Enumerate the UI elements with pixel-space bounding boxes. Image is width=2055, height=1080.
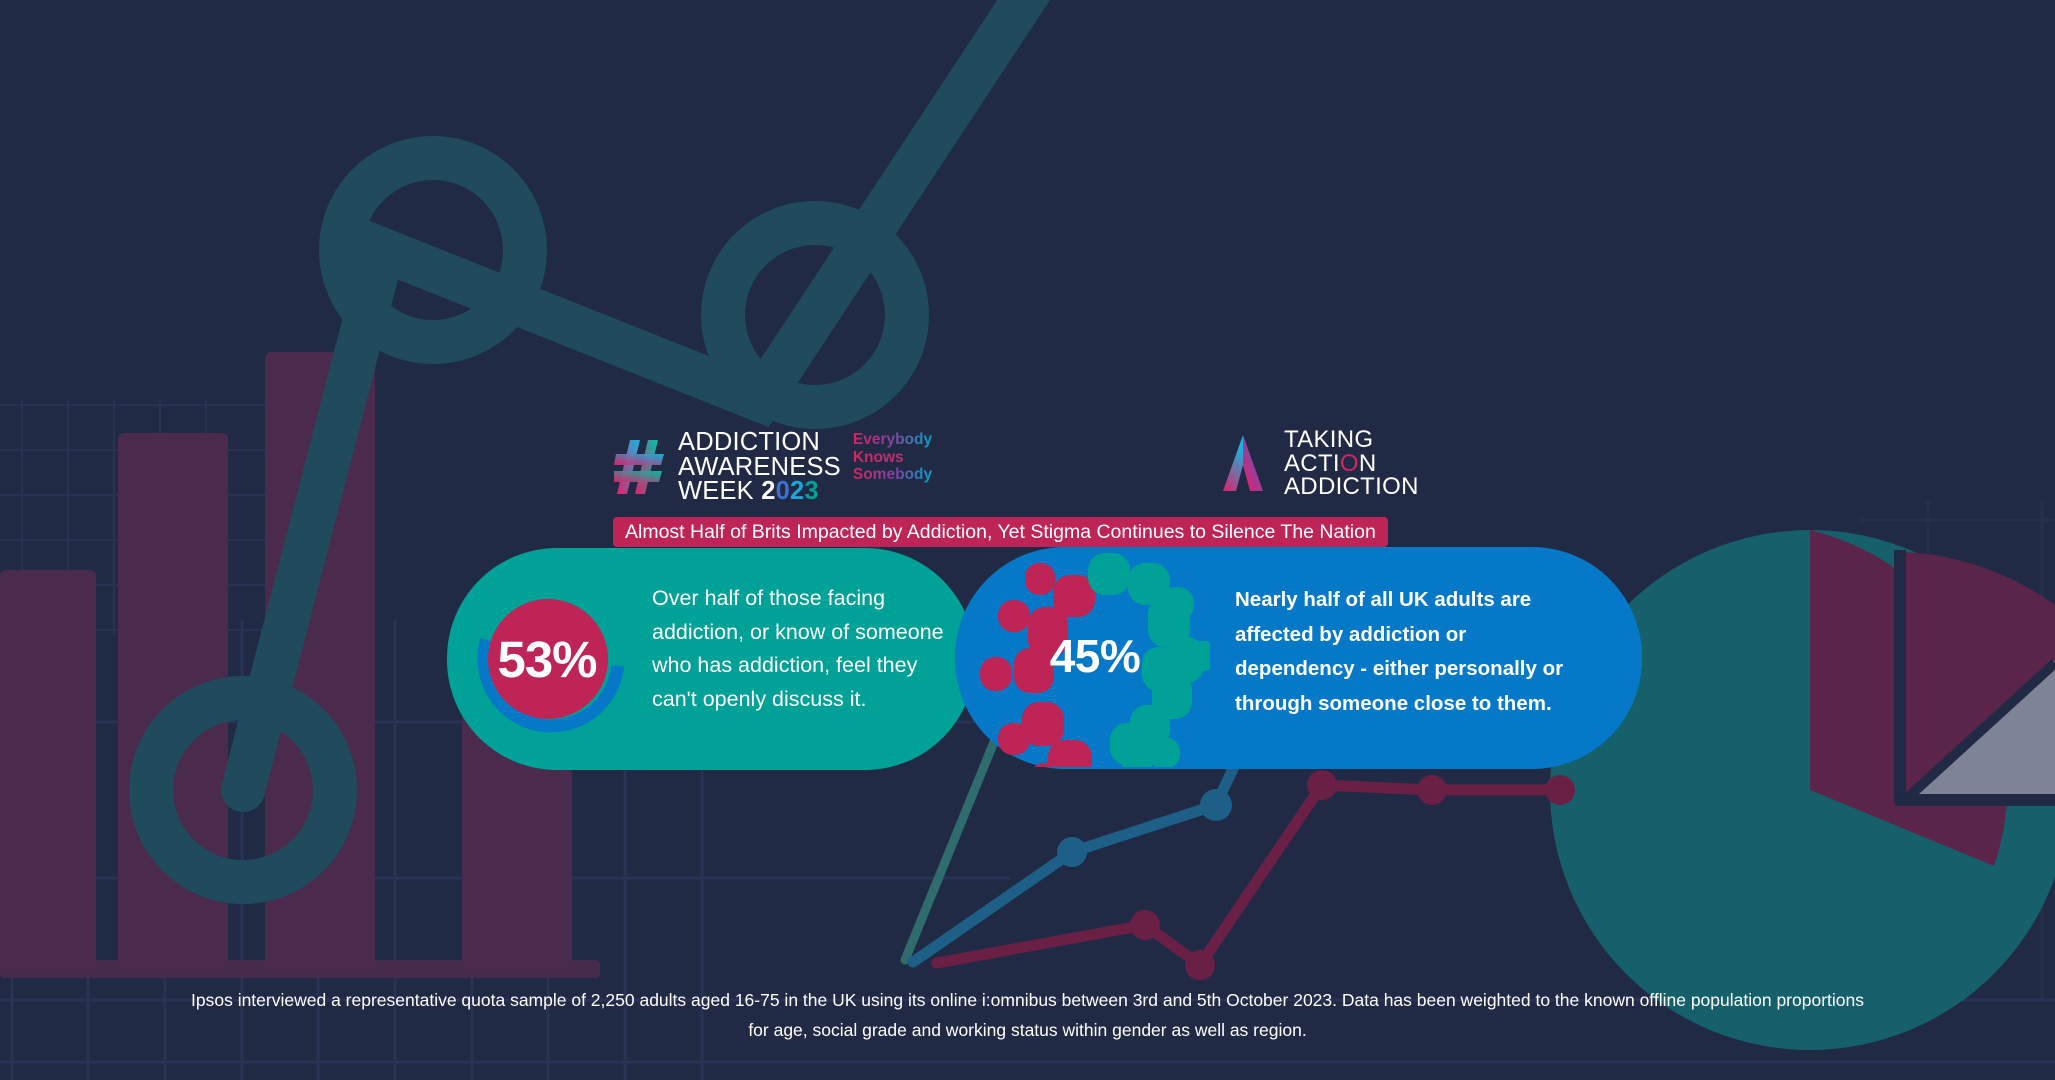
aaw-tagline: Everybody Knows Somebody: [853, 430, 932, 484]
aaw-tagline-line2: Knows: [853, 449, 932, 467]
affected-card-body: Nearly half of all UK adults are affecte…: [1235, 583, 1575, 721]
stat-donut-53: 53%: [476, 584, 626, 734]
aaw-year: 2023: [761, 477, 819, 505]
infographic-canvas: ADDICTION AWARENESS WEEK 2023 Everybody …: [0, 0, 2055, 1080]
aaw-line3-word: WEEK: [678, 477, 754, 505]
stat-value-53: 53%: [472, 584, 622, 734]
stigma-card-body: Over half of those facing addiction, or …: [652, 582, 952, 716]
stat-value-45: 45%: [1035, 629, 1155, 683]
taking-action-addiction-logo: TAKING ACTION ADDICTION: [1216, 428, 1419, 499]
addiction-awareness-week-2023-logo: ADDICTION AWARENESS WEEK 2023 Everybody …: [614, 430, 932, 504]
aaw-line2: AWARENESS: [678, 455, 841, 480]
methodology-line-2: for age, social grade and working status…: [0, 1015, 2055, 1045]
taa-line3: ADDICTION: [1284, 475, 1419, 499]
headline-banner: Almost Half of Brits Impacted by Addicti…: [613, 517, 1388, 547]
hash-icon: [614, 438, 666, 496]
aaw-tagline-line1: Everybody: [853, 431, 932, 449]
gradient-a-icon: [1216, 433, 1270, 493]
affected-card: 45% Nearly half of all UK adults are aff…: [955, 547, 1642, 769]
aaw-tagline-line3: Somebody: [853, 466, 932, 484]
pie-wedges-decoration: [1895, 550, 2055, 802]
aaw-line1: ADDICTION: [678, 430, 841, 455]
taa-line2: ACTION: [1284, 452, 1419, 476]
taa-line1: TAKING: [1284, 428, 1419, 452]
stigma-card: 53% Over half of those facing addiction,…: [447, 548, 975, 770]
methodology-line-1: Ipsos interviewed a representative quota…: [0, 985, 2055, 1015]
methodology-footnote: Ipsos interviewed a representative quota…: [0, 985, 2055, 1045]
